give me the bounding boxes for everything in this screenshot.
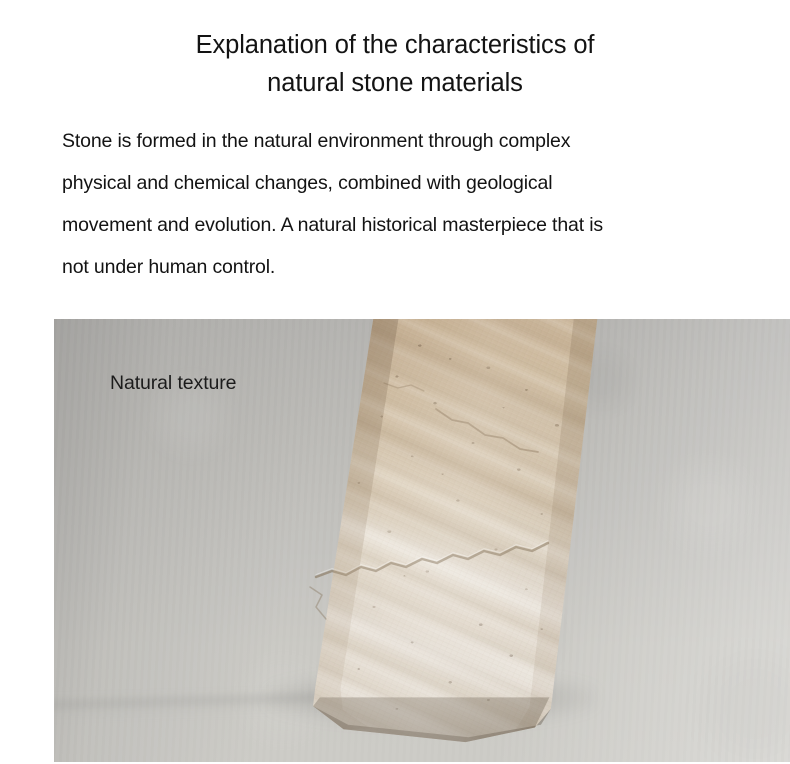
body-paragraph: Stone is formed in the natural environme…	[0, 102, 790, 288]
page-root: Explanation of the characteristics of na…	[0, 0, 790, 764]
text-section: Explanation of the characteristics of na…	[0, 0, 790, 303]
body-paragraph-line-1: Stone is formed in the natural environme…	[62, 120, 772, 162]
stone-product-photo: Natural texture	[54, 319, 790, 762]
page-title-line-2: natural stone materials	[95, 64, 695, 102]
page-title: Explanation of the characteristics of na…	[0, 0, 790, 102]
body-paragraph-line-3: movement and evolution. A natural histor…	[62, 204, 772, 246]
photo-caption: Natural texture	[110, 370, 236, 396]
page-title-line-1: Explanation of the characteristics of	[95, 26, 695, 64]
body-paragraph-line-4: not under human control.	[62, 246, 772, 288]
body-paragraph-line-2: physical and chemical changes, combined …	[62, 162, 772, 204]
